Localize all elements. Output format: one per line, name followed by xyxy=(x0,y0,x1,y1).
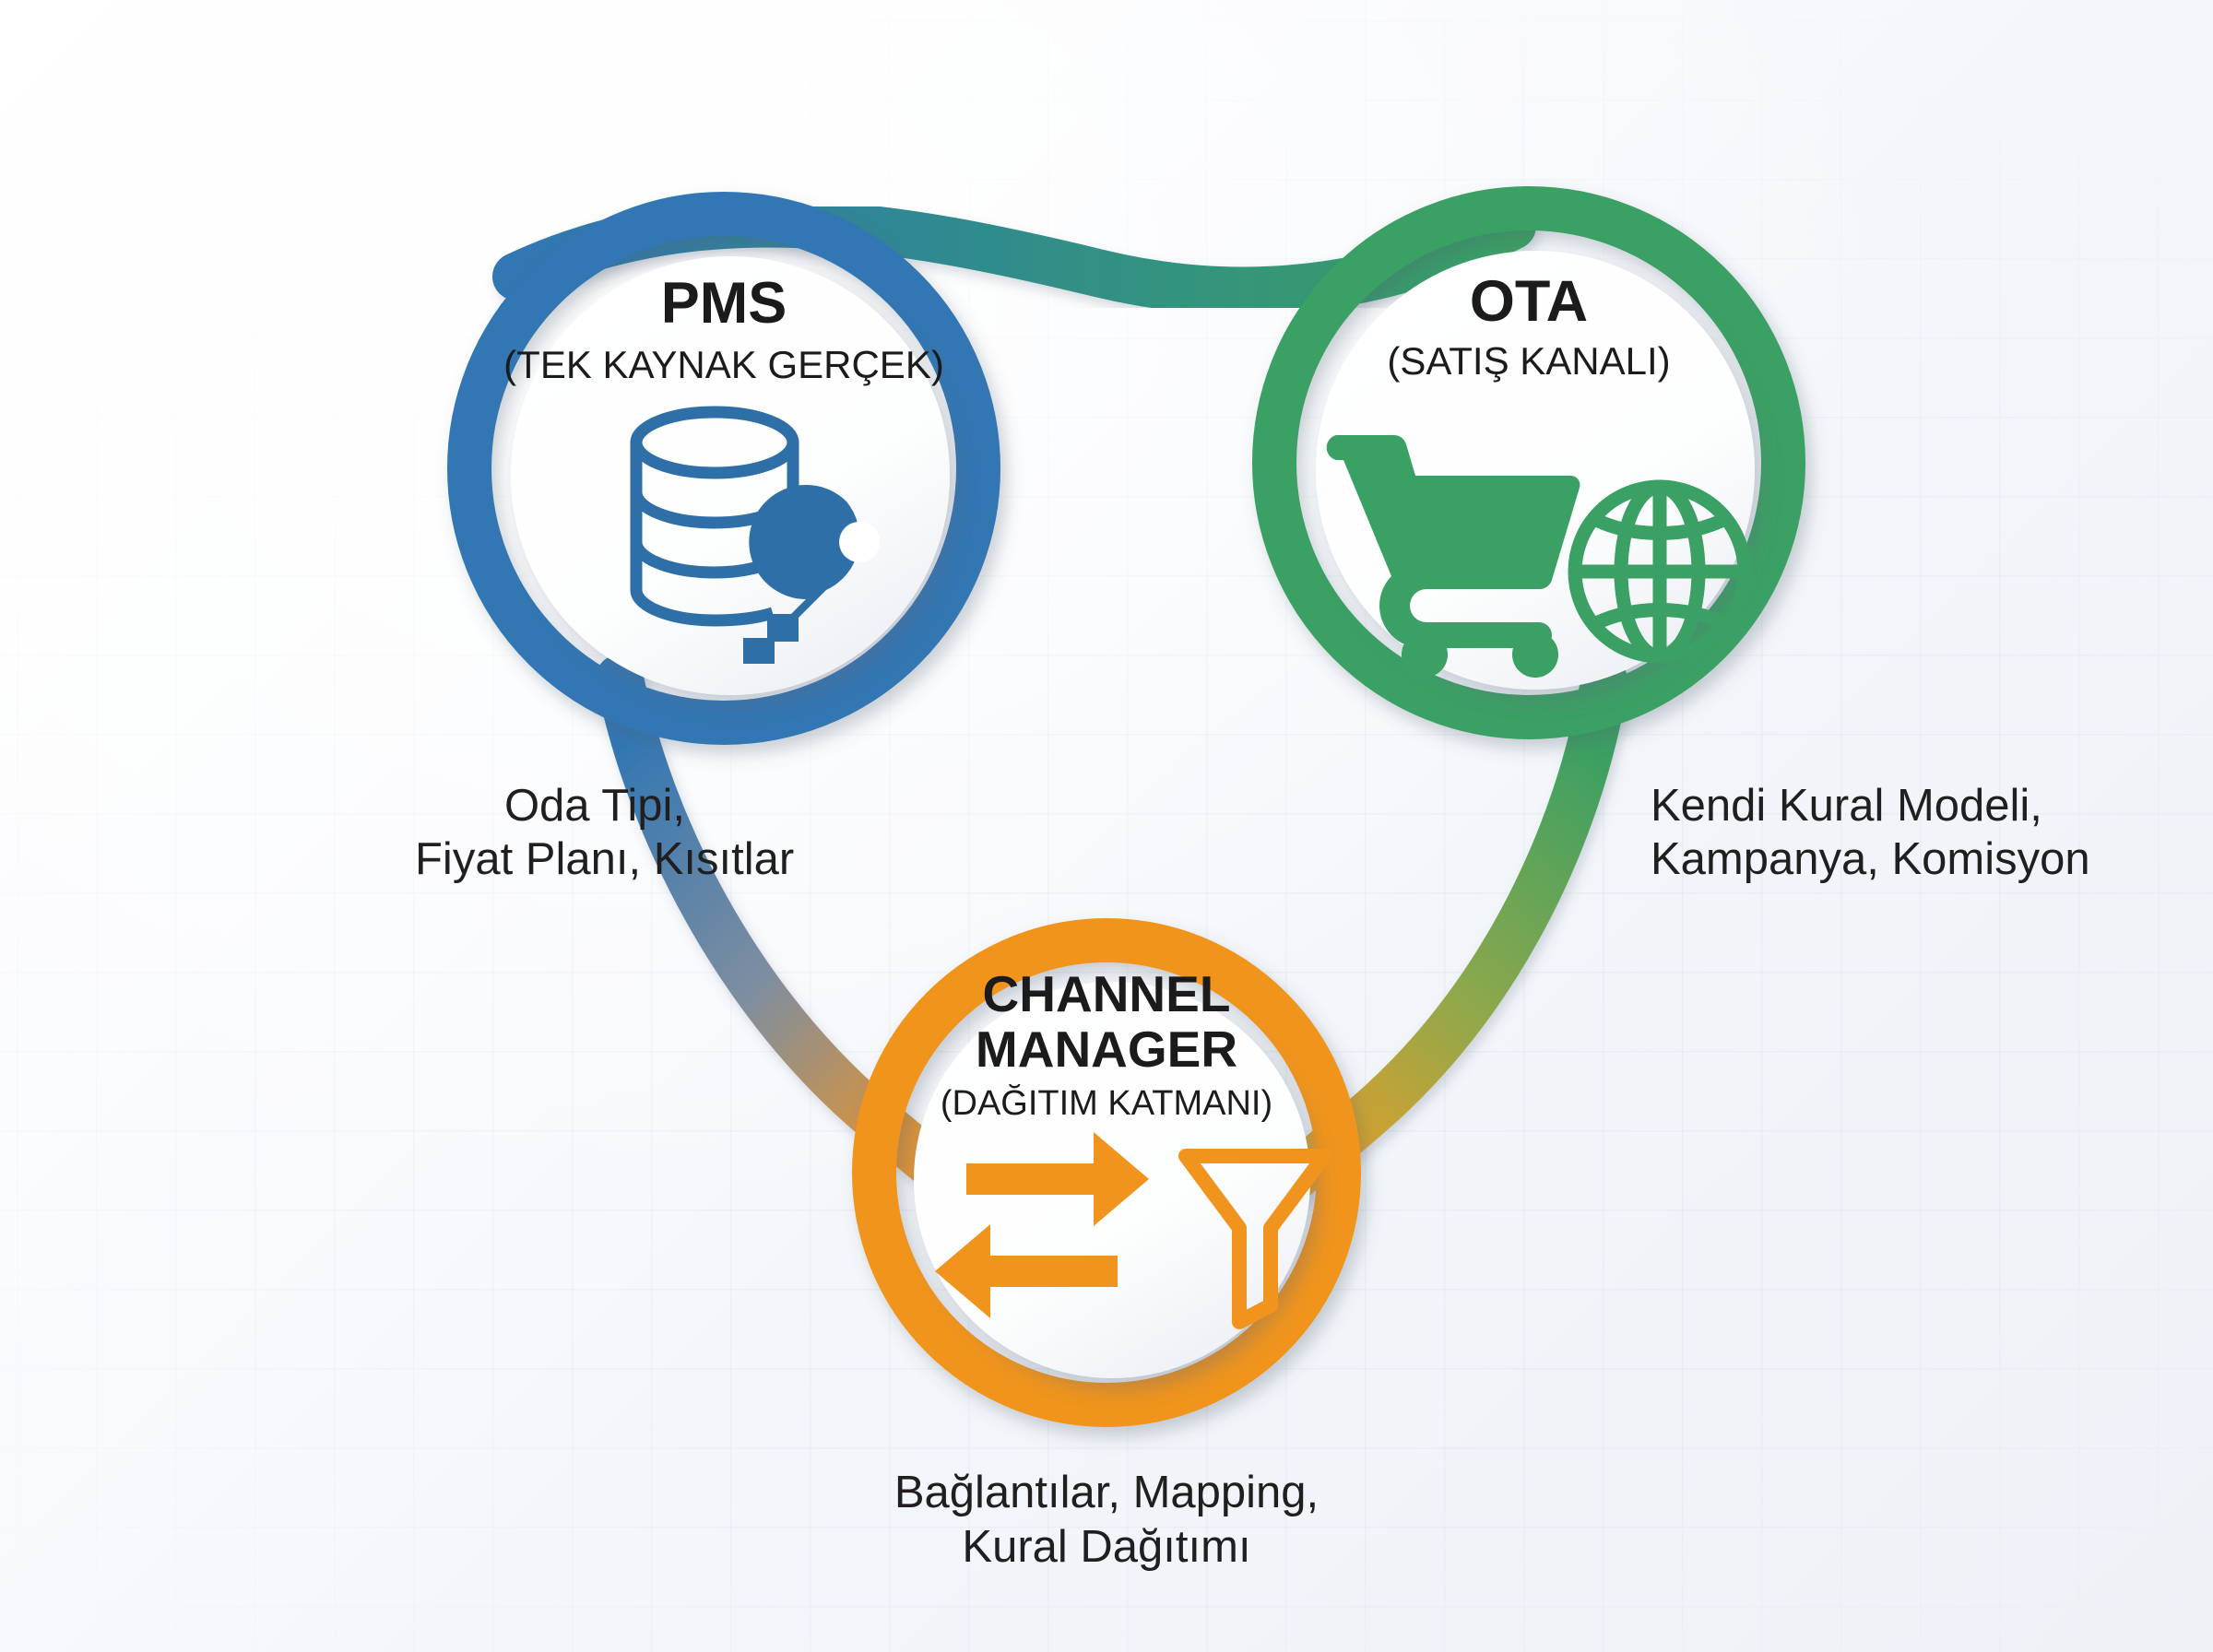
node-ota-subtitle: (SATIŞ KANALI) xyxy=(1387,339,1670,383)
node-channel-manager-title-line1: CHANNEL xyxy=(983,965,1231,1022)
node-pms-title: PMS xyxy=(661,271,787,336)
edge-label-ota-cm-line2: Kampanya, Komisyon xyxy=(1651,834,2090,884)
globe-icon xyxy=(1575,487,1745,656)
edge-label-pms-cm-line2: Fiyat Planı, Kısıtlar xyxy=(415,834,794,884)
flow-diagram: PMS (TEK KAYNAK GERÇEK) OTA (SATIŞ KANAL… xyxy=(0,0,2213,1652)
node-pms[interactable]: PMS (TEK KAYNAK GERÇEK) xyxy=(469,214,978,723)
edge-label-ota-cm-line1: Kendi Kural Modeli, xyxy=(1651,781,2042,831)
node-ota[interactable]: OTA (SATIŞ KANALI) xyxy=(1274,208,1783,717)
node-pms-subtitle: (TEK KAYNAK GERÇEK) xyxy=(503,343,944,386)
edge-label-pms-cm-line1: Oda Tipi, xyxy=(504,781,685,831)
node-channel-manager-subtitle: (DAĞITIM KATMANI) xyxy=(941,1082,1272,1123)
edge-label-cm-bottom-line1: Bağlantılar, Mapping, xyxy=(894,1468,1319,1517)
node-channel-manager-title-line2: MANAGER xyxy=(976,1021,1237,1078)
node-channel-manager[interactable]: CHANNEL MANAGER (DAĞITIM KATMANI) xyxy=(874,940,1339,1405)
diagram-canvas: PMS (TEK KAYNAK GERÇEK) OTA (SATIŞ KANAL… xyxy=(0,0,2213,1652)
edge-label-cm-bottom-line2: Kural Dağıtımı xyxy=(962,1522,1250,1572)
node-ota-title: OTA xyxy=(1470,269,1588,334)
